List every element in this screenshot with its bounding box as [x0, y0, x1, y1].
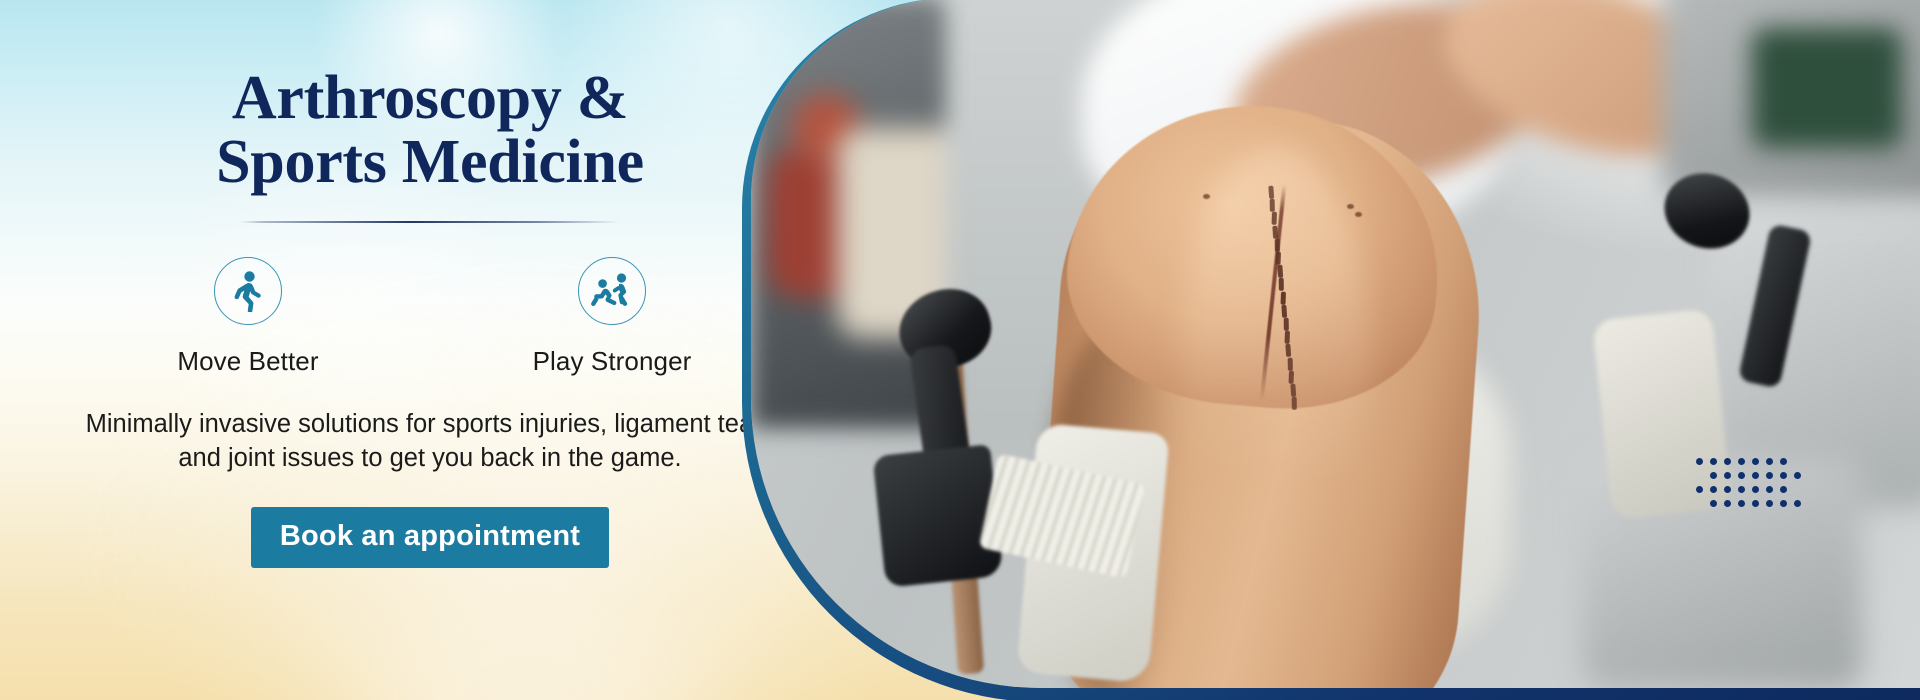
- grid-dot: [1738, 458, 1745, 465]
- grid-dot: [1710, 486, 1717, 493]
- grid-dot: [1794, 486, 1801, 493]
- headline-line-1: Arthroscopy &: [232, 64, 628, 132]
- brace-hardware: [751, 0, 1920, 688]
- grid-dot: [1794, 472, 1801, 479]
- headline-line-2: Sports Medicine: [216, 130, 644, 194]
- feature-label: Move Better: [177, 346, 318, 377]
- grid-dot: [1780, 472, 1787, 479]
- grid-dot: [1780, 500, 1787, 507]
- grid-dot: [1752, 500, 1759, 507]
- wrestling-athletes-icon: [578, 257, 646, 325]
- brace-hinge-knob: [1655, 163, 1760, 260]
- grid-dot: [1724, 472, 1731, 479]
- grid-dot: [1724, 458, 1731, 465]
- hero-banner: Arthroscopy & Sports Medicine Move Bette…: [0, 0, 1920, 700]
- grid-dot: [1724, 486, 1731, 493]
- grid-dot: [1794, 458, 1801, 465]
- book-appointment-button[interactable]: Book an appointment: [251, 507, 609, 568]
- grid-dot: [1766, 486, 1773, 493]
- hero-image: [751, 0, 1920, 688]
- grid-dot: [1752, 458, 1759, 465]
- grid-dot: [1780, 458, 1787, 465]
- hero-content: Arthroscopy & Sports Medicine Move Bette…: [0, 0, 860, 700]
- brace-arm: [1738, 223, 1812, 388]
- grid-dot: [1766, 458, 1773, 465]
- grid-dot: [1738, 486, 1745, 493]
- brace-clamp: [872, 444, 1003, 588]
- grid-dot: [1710, 472, 1717, 479]
- page-title: Arthroscopy & Sports Medicine: [216, 66, 644, 195]
- hero-description: Minimally invasive solutions for sports …: [80, 407, 780, 475]
- grid-dot: [1766, 472, 1773, 479]
- grid-dot: [1780, 486, 1787, 493]
- grid-dot: [1752, 472, 1759, 479]
- grid-dot: [1752, 486, 1759, 493]
- grid-dot: [1724, 500, 1731, 507]
- grid-dot: [1794, 500, 1801, 507]
- grid-dot: [1696, 472, 1703, 479]
- grid-dot: [1696, 500, 1703, 507]
- grid-dot: [1710, 500, 1717, 507]
- title-divider: [240, 221, 620, 223]
- dot-grid-icon: [1692, 454, 1804, 510]
- grid-dot: [1696, 486, 1703, 493]
- grid-dot: [1696, 458, 1703, 465]
- grid-dot: [1766, 500, 1773, 507]
- feature-move-better[interactable]: Move Better: [158, 257, 338, 377]
- walking-person-icon: [214, 257, 282, 325]
- feature-list: Move Better Play Stronger: [158, 257, 702, 377]
- grid-dot: [1738, 500, 1745, 507]
- feature-play-stronger[interactable]: Play Stronger: [522, 257, 702, 377]
- grid-dot: [1738, 472, 1745, 479]
- grid-dot: [1710, 458, 1717, 465]
- clinic-photo: [751, 0, 1920, 688]
- feature-label: Play Stronger: [533, 346, 692, 377]
- hero-image-panel: [742, 0, 1920, 700]
